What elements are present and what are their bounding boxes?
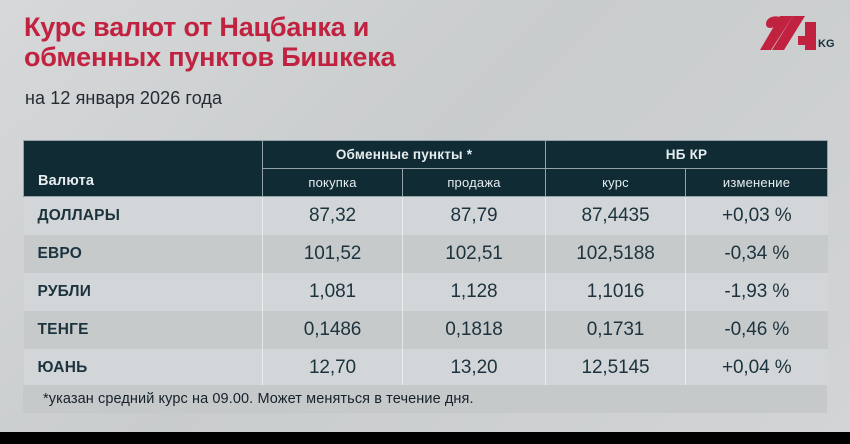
table-row: ДОЛЛАРЫ 87,32 87,79 87,4435 +0,03 % — [24, 197, 828, 236]
row-change: -1,93 % — [686, 273, 828, 311]
header-group-exchange-points: Обменные пункты * — [263, 141, 546, 169]
page-title-line-1: Курс валют от Нацбанка и — [24, 12, 724, 42]
header-sub-buy: покупка — [263, 169, 403, 197]
row-sell: 0,1818 — [403, 311, 546, 349]
table-body: ДОЛЛАРЫ 87,32 87,79 87,4435 +0,03 % ЕВРО… — [24, 197, 828, 388]
svg-text:KG: KG — [818, 38, 834, 50]
row-buy: 1,081 — [263, 273, 403, 311]
header-sub-sell: продажа — [403, 169, 546, 197]
row-currency-name: ТЕНГЕ — [24, 311, 263, 349]
page-title: Курс валют от Нацбанка и обменных пункто… — [24, 12, 724, 72]
row-buy: 0,1486 — [263, 311, 403, 349]
header-currency: Валюта — [24, 141, 263, 197]
row-change: -0,46 % — [686, 311, 828, 349]
row-currency-name: РУБЛИ — [24, 273, 263, 311]
row-change: +0,04 % — [686, 349, 828, 387]
table-footnote: *указан средний курс на 09.00. Может мен… — [23, 385, 827, 413]
24kg-logo: KG — [760, 14, 834, 54]
page-subtitle: на 12 января 2026 года — [25, 88, 222, 109]
row-sell: 13,20 — [403, 349, 546, 387]
row-sell: 102,51 — [403, 235, 546, 273]
bottom-bar — [0, 432, 850, 444]
row-currency-name: ЕВРО — [24, 235, 263, 273]
row-rate: 12,5145 — [546, 349, 686, 387]
row-buy: 101,52 — [263, 235, 403, 273]
row-rate: 1,1016 — [546, 273, 686, 311]
row-change: -0,34 % — [686, 235, 828, 273]
header-group-nbkr: НБ КР — [546, 141, 828, 169]
table-row: РУБЛИ 1,081 1,128 1,1016 -1,93 % — [24, 273, 828, 311]
row-sell: 1,128 — [403, 273, 546, 311]
header-sub-change: изменение — [686, 169, 828, 197]
header-sub-rate: курс — [546, 169, 686, 197]
row-buy: 12,70 — [263, 349, 403, 387]
row-rate: 0,1731 — [546, 311, 686, 349]
table-header: Валюта Обменные пункты * НБ КР покупка п… — [24, 141, 828, 197]
row-rate: 87,4435 — [546, 197, 686, 236]
row-buy: 87,32 — [263, 197, 403, 236]
currency-rates-table: Валюта Обменные пункты * НБ КР покупка п… — [23, 140, 828, 387]
logo-icon: KG — [760, 14, 834, 54]
row-rate: 102,5188 — [546, 235, 686, 273]
row-currency-name: ДОЛЛАРЫ — [24, 197, 263, 236]
row-change: +0,03 % — [686, 197, 828, 236]
table-row: ТЕНГЕ 0,1486 0,1818 0,1731 -0,46 % — [24, 311, 828, 349]
table-row: ЕВРО 101,52 102,51 102,5188 -0,34 % — [24, 235, 828, 273]
table-header-row-groups: Валюта Обменные пункты * НБ КР — [24, 141, 828, 169]
row-sell: 87,79 — [403, 197, 546, 236]
row-currency-name: ЮАНЬ — [24, 349, 263, 387]
page-title-line-2: обменных пунктов Бишкека — [24, 42, 724, 72]
infographic-page: Курс валют от Нацбанка и обменных пункто… — [0, 0, 850, 444]
table-row: ЮАНЬ 12,70 13,20 12,5145 +0,04 % — [24, 349, 828, 387]
